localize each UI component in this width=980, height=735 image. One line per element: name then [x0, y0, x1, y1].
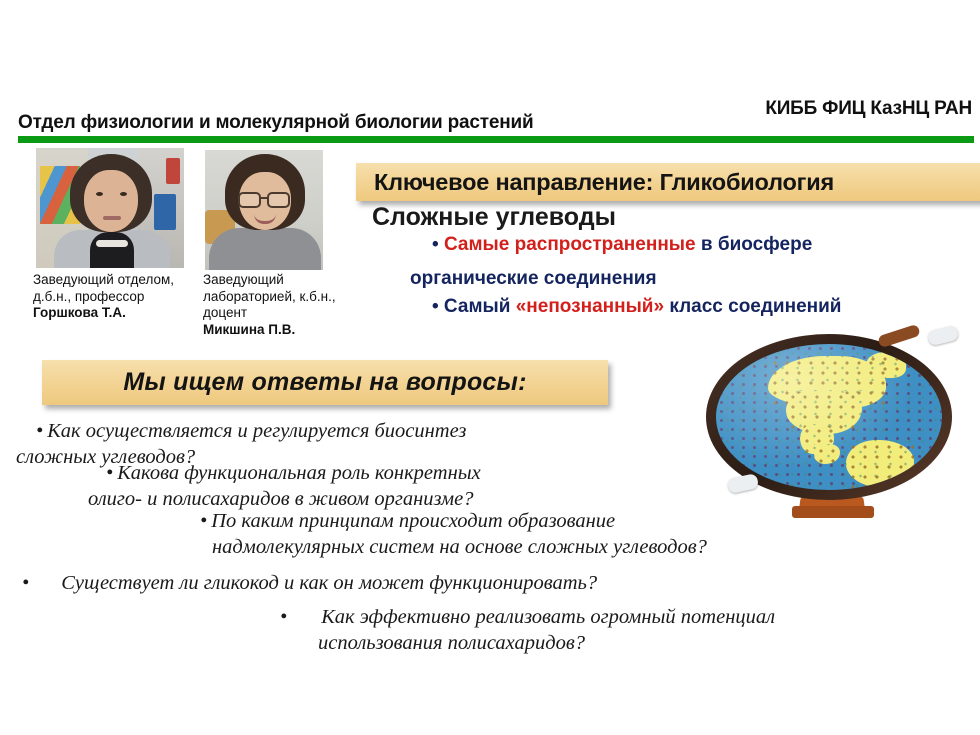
question-item: •Существует ли гликокод и как он может ф… — [22, 570, 597, 596]
photo-glasses-right — [267, 192, 290, 208]
key-direction-bullet-2: • Самый «непознанный» класс соединений — [432, 296, 842, 318]
key-direction-bullet-1: • Самые распространенные в биосфере — [432, 234, 812, 256]
photo-eye-left — [96, 192, 103, 196]
bullet-marker: • — [200, 510, 207, 532]
caption-name: Горшкова Т.А. — [33, 305, 193, 322]
question-line-2: надмолекулярных систем на основе сложных… — [212, 534, 707, 560]
photo-face — [84, 170, 138, 232]
bullet-marker: • — [22, 572, 29, 594]
question-line-1: По каким принципам происходит образовани… — [211, 510, 615, 532]
photo-shirt — [90, 232, 134, 268]
question-item: •По каким принципам происходит образован… — [200, 508, 707, 560]
bullet-pre: органические соединения — [410, 268, 657, 289]
key-direction-bullet-1-cont: органические соединения — [410, 268, 657, 290]
photo-blue-box — [154, 194, 176, 230]
bullet-marker: • — [432, 234, 439, 255]
photo-mouth — [103, 216, 121, 220]
globe-icon — [700, 328, 962, 544]
globe-clip-top — [927, 325, 960, 347]
globe-landmass-central-america — [814, 444, 840, 464]
photo-eye-right — [120, 192, 127, 196]
question-line-2: использования полисахаридов? — [318, 630, 775, 656]
bullet-post: класс соединений — [664, 296, 841, 317]
question-item: •Какова функциональная роль конкретных о… — [106, 460, 481, 512]
questions-banner: Мы ищем ответы на вопросы: — [42, 360, 608, 405]
photo-sweater — [209, 228, 321, 270]
question-line-1: Существует ли гликокод и как он может фу… — [61, 572, 597, 594]
key-direction-subtitle: Сложные углеводы — [372, 203, 616, 232]
photo-collar — [96, 240, 128, 247]
question-line-1: Как осуществляется и регулируется биосин… — [47, 420, 466, 442]
globe-landmass-south-america — [846, 440, 914, 488]
key-direction-banner-label: Ключевое направление: Гликобиология — [374, 169, 834, 196]
globe-sphere — [716, 344, 942, 490]
bullet-marker: • — [106, 462, 113, 484]
bullet-marker: • — [280, 606, 287, 628]
bullet-pre: Самый — [439, 296, 516, 317]
slide-canvas: КИББ ФИЦ КазНЦ РАН Отдел физиологии и мо… — [0, 0, 980, 735]
green-divider — [18, 136, 974, 143]
question-line-1: Какова функциональная роль конкретных — [117, 462, 481, 484]
caption-mikshina: Заведующий лабораторией, к.б.н., доцент … — [203, 272, 363, 338]
photo-glasses-left — [238, 192, 261, 208]
caption-role: Заведующий лабораторией, к.б.н., доцент — [203, 272, 336, 320]
bullet-marker: • — [432, 296, 439, 317]
person-card-mikshina — [0, 0, 118, 120]
bullet-highlight: «непознанный» — [516, 296, 664, 317]
photo-mikshina — [205, 150, 323, 270]
bullet-marker: • — [36, 420, 43, 442]
institute-title: КИББ ФИЦ КазНЦ РАН — [765, 98, 972, 120]
caption-name: Микшина П.В. — [203, 322, 363, 339]
globe-base — [792, 506, 874, 518]
photo-glasses-bridge — [259, 197, 267, 199]
photo-gorshkova — [36, 148, 184, 268]
key-direction-banner: Ключевое направление: Гликобиология — [356, 163, 980, 201]
caption-gorshkova: Заведующий отделом, д.б.н., профессор Го… — [33, 272, 193, 322]
bullet-highlight: Самые распространенные — [444, 234, 696, 255]
question-line-1: Как эффективно реализовать огромный поте… — [321, 606, 775, 628]
question-item: •Как эффективно реализовать огромный пот… — [280, 604, 775, 656]
caption-role: Заведующий отделом, д.б.н., профессор — [33, 272, 174, 304]
questions-banner-label: Мы ищем ответы на вопросы: — [123, 368, 526, 397]
bullet-post: в биосфере — [696, 234, 813, 255]
photo-red-box — [166, 158, 180, 184]
